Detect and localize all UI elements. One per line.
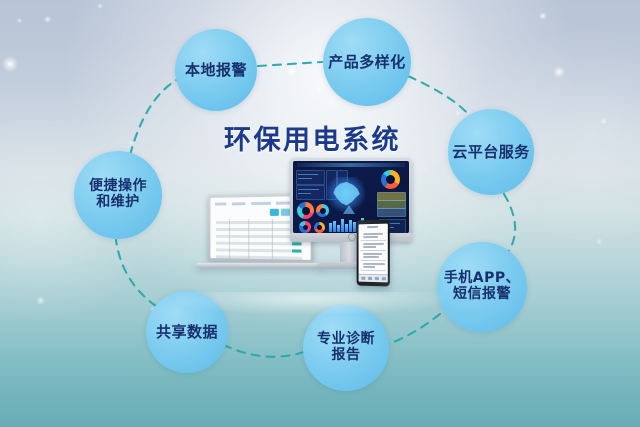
- connector-segment: [504, 194, 515, 252]
- node-label-line1: 便捷操作: [89, 179, 147, 195]
- connector-segment: [408, 76, 468, 114]
- connector-segment: [226, 346, 304, 357]
- node-diagnostic-report[interactable]: 专业诊断 报告: [303, 305, 389, 391]
- dashboard-metric: [298, 174, 318, 175]
- connector-segment: [130, 78, 180, 155]
- bar-chart-bar: [341, 219, 344, 232]
- sparkle-icon: [600, 118, 607, 125]
- donut-chart: [299, 221, 311, 233]
- node-label-line1: 手机APP、: [444, 271, 520, 287]
- donut-chart: [297, 202, 314, 219]
- node-easy-maintenance[interactable]: 便捷操作 和维护: [74, 151, 162, 239]
- table-header-cell: [232, 202, 245, 205]
- bar-chart-bar: [333, 221, 336, 232]
- brand-logo-icon: [348, 233, 356, 241]
- phone-tab-bar[interactable]: [359, 274, 388, 283]
- node-label: 云平台服务: [452, 144, 530, 161]
- node-label: 本地报警: [185, 62, 247, 79]
- node-label-line2: 和维护: [89, 195, 147, 211]
- sparkle-icon: [596, 238, 603, 245]
- table-badge: [281, 209, 290, 216]
- alarm-list-item[interactable]: [360, 231, 385, 241]
- donut-chart: [314, 222, 325, 233]
- node-product-diversity[interactable]: 产品多样化: [323, 18, 411, 106]
- connector-segment: [116, 240, 156, 306]
- bar-chart-bar: [349, 220, 352, 232]
- node-mobile-app-sms[interactable]: 手机APP、 短信报警: [437, 242, 527, 332]
- sparkle-icon: [455, 110, 461, 116]
- dashboard-heat-row: [377, 208, 406, 217]
- connector-segment: [388, 314, 440, 344]
- tab-icon[interactable]: [382, 277, 386, 280]
- alarm-list-item[interactable]: [360, 251, 385, 261]
- sparkle-icon: [539, 12, 547, 20]
- tab-icon[interactable]: [375, 277, 379, 280]
- phone-screen: [359, 224, 388, 283]
- monitor-bezel: [290, 158, 412, 242]
- sparkle-icon: [316, 86, 323, 93]
- tab-icon[interactable]: [368, 277, 372, 280]
- sparkle-icon: [44, 16, 51, 23]
- sparkle-icon: [553, 66, 565, 78]
- monitor-screen: [293, 161, 409, 233]
- node-local-alarm[interactable]: 本地报警: [175, 29, 257, 111]
- sparkle-icon: [128, 140, 134, 146]
- node-label: 共享数据: [156, 324, 218, 341]
- table-header-cell: [251, 202, 271, 205]
- sparkle-icon: [2, 56, 18, 72]
- tab-icon[interactable]: [361, 277, 365, 280]
- node-label-line1: 专业诊断: [317, 332, 375, 348]
- phone-body: [357, 220, 390, 287]
- page-title: 环保用电系统: [224, 118, 401, 157]
- table-header-cell: [215, 203, 226, 206]
- dashboard-metric: [298, 193, 311, 194]
- dashboard-metric: [298, 189, 319, 190]
- node-cloud-platform[interactable]: 云平台服务: [448, 109, 534, 195]
- dashboard-header: [297, 163, 405, 167]
- node-label: 产品多样化: [328, 54, 406, 71]
- table-badge: [270, 209, 279, 216]
- sparkle-icon: [286, 66, 297, 77]
- sparkle-icon: [36, 296, 45, 305]
- device-cluster: [190, 158, 430, 310]
- donut-chart: [381, 170, 400, 189]
- connector-segment: [258, 62, 322, 66]
- dashboard-metric: [298, 178, 312, 179]
- alarm-list-item[interactable]: [360, 261, 385, 271]
- sparkle-icon: [97, 3, 103, 9]
- bar-chart-bar: [337, 225, 340, 232]
- node-label-line2: 短信报警: [444, 287, 520, 303]
- alarm-list-item[interactable]: [360, 241, 385, 251]
- poster-canvas: 本地报警 产品多样化 云平台服务 手机APP、 短信报警 专业诊断 报告 共享数…: [0, 0, 640, 427]
- sparkle-icon: [17, 18, 22, 23]
- map-marker-icon: [343, 205, 355, 214]
- bar-chart-bar: [329, 223, 332, 232]
- node-label-line2: 报告: [317, 348, 375, 364]
- bar-chart-bar: [345, 224, 348, 232]
- desktop-monitor: [290, 158, 412, 278]
- smartphone: [356, 220, 390, 286]
- phone-app-title: [367, 226, 378, 228]
